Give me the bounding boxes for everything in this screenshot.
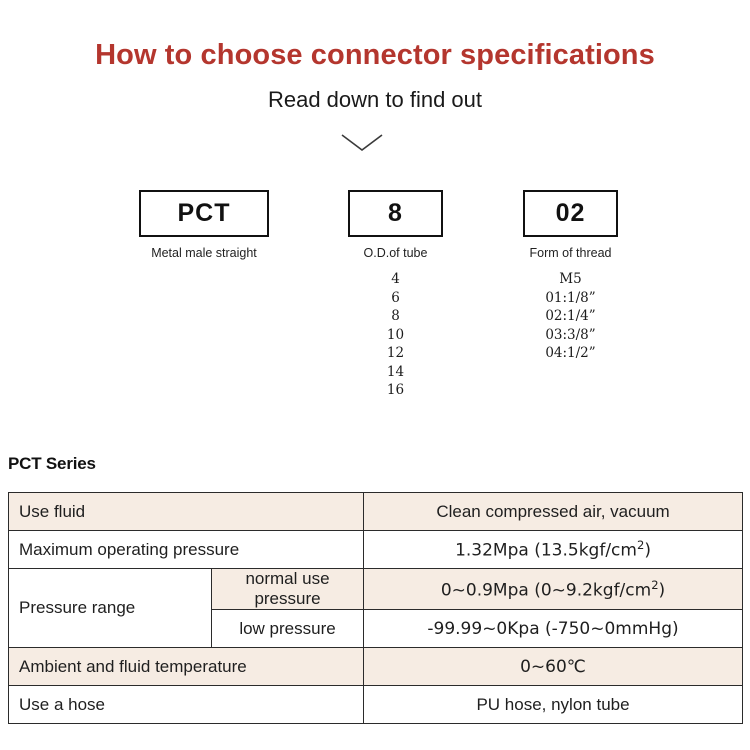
code-caption-tube-od: O.D.of tube [348,246,443,260]
table-row: Pressure range normal use pressure 0~0.9… [9,569,743,610]
spec-label-pressure-range: Pressure range [9,569,212,648]
table-row: Ambient and fluid temperature 0~60℃ [9,648,743,686]
code-group-tube-od: 8 O.D.of tube 46810121416 [348,190,443,400]
code-group-thread-form: 02 Form of thread M501:1/8”02:1/4”03:3/8… [523,190,618,363]
spec-label-use-a-hose: Use a hose [9,686,364,724]
code-option: 8 [348,307,443,326]
spec-sublabel-normal-use-pressure: normal use pressure [212,569,364,610]
code-box-tube-od[interactable]: 8 [348,190,443,237]
value-prefix: 1.32Mpa (13.5kgf/cm [455,541,637,561]
spec-label-ambient-temperature: Ambient and fluid temperature [9,648,364,686]
spec-value-use-a-hose: PU hose, nylon tube [364,686,743,724]
value-exponent: 2 [651,578,658,592]
spec-value-normal-use-pressure: 0~0.9Mpa (0~9.2kgf/cm2) [364,569,743,610]
code-option: 01:1/8” [523,289,618,308]
code-option: 12 [348,344,443,363]
spec-value-max-pressure: 1.32Mpa (13.5kgf/cm2) [364,531,743,569]
page-title: How to choose connector specifications [0,38,750,72]
code-caption-thread-form: Form of thread [523,246,618,260]
code-option: 16 [348,381,443,400]
code-caption-series: Metal male straight [139,246,269,260]
code-box-series[interactable]: PCT [139,190,269,237]
spec-value-ambient-temperature: 0~60℃ [364,648,743,686]
code-option: 14 [348,363,443,382]
table-row: Use fluid Clean compressed air, vacuum [9,493,743,531]
code-option: 02:1/4” [523,307,618,326]
table-row: Maximum operating pressure 1.32Mpa (13.5… [9,531,743,569]
spec-table: Use fluid Clean compressed air, vacuum M… [8,492,743,724]
spec-sublabel-low-pressure: low pressure [212,610,364,648]
code-box-thread-form[interactable]: 02 [523,190,618,237]
code-option: 4 [348,270,443,289]
spec-label-max-pressure: Maximum operating pressure [9,531,364,569]
spec-value-low-pressure: -99.99~0Kpa (-750~0mmHg) [364,610,743,648]
chevron-down-icon [341,133,383,153]
code-option: 04:1/2” [523,344,618,363]
value-suffix: ) [644,541,651,561]
code-option: M5 [523,270,618,289]
spec-value-use-fluid: Clean compressed air, vacuum [364,493,743,531]
code-option: 6 [348,289,443,308]
page-subtitle: Read down to find out [0,86,750,114]
spec-table-heading: PCT Series [8,454,96,474]
code-option: 10 [348,326,443,345]
code-group-series: PCT Metal male straight [139,190,269,270]
code-options-tube-od: 46810121416 [348,270,443,400]
value-suffix: ) [659,580,666,600]
table-row: Use a hose PU hose, nylon tube [9,686,743,724]
value-prefix: 0~0.9Mpa (0~9.2kgf/cm [441,580,651,600]
code-options-thread-form: M501:1/8”02:1/4”03:3/8”04:1/2” [523,270,618,363]
code-option: 03:3/8” [523,326,618,345]
spec-label-use-fluid: Use fluid [9,493,364,531]
